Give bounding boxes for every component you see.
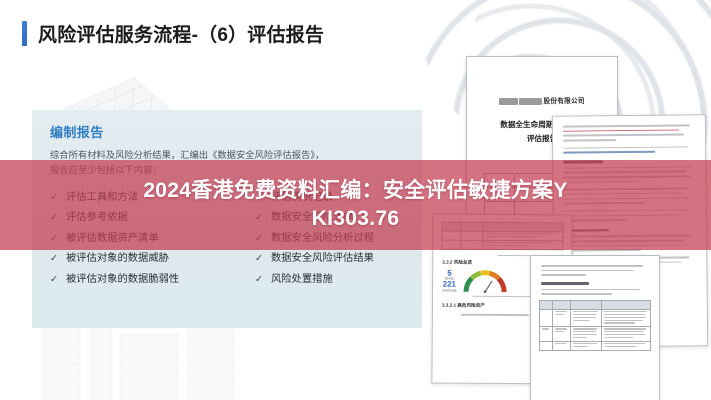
cover-company-line: XXXXXXXXX股份有限公司 <box>467 95 617 105</box>
list-item-label: 被评估对象的数据威胁 <box>66 249 169 264</box>
risk-detail-table <box>539 300 651 351</box>
check-icon: ✓ <box>255 275 263 285</box>
watermark-line-2: KI303.76 <box>143 205 567 233</box>
watermark-overlay-text: 2024香港免费资料汇编：安全评估敏捷方案Y KI303.76 <box>121 177 589 234</box>
redaction-block-icon: XXXX <box>499 98 518 105</box>
watermark-overlay-banner: 2024香港免费资料汇编：安全评估敏捷方案Y KI303.76 <box>0 160 711 250</box>
list-item-label: 风险处置措施 <box>271 270 333 285</box>
list-item-label: 被评估对象的数据脆弱性 <box>66 270 179 285</box>
slide-title-row: 风险评估服务流程-（6）评估报告 <box>22 20 324 47</box>
list-item: ✓ 被评估对象的数据脆弱性 <box>50 270 255 285</box>
check-icon: ✓ <box>50 254 58 264</box>
watermark-line-1: 2024香港免费资料汇编：安全评估敏捷方案Y <box>143 177 567 205</box>
list-item: ✓ 风险处置措施 <box>255 270 412 285</box>
list-item: ✓ 被评估对象的数据威胁 <box>50 249 255 264</box>
title-accent-bar <box>22 21 27 46</box>
slide-canvas: 风险评估服务流程-（6）评估报告 XXXXXXXXX股份有限公司 数据全生命周期… <box>0 0 711 400</box>
redaction-block-icon: XXXXX <box>519 98 543 105</box>
table-page-intro-lines <box>531 256 659 295</box>
list-item-label: 数据安全风险评估结果 <box>271 249 374 264</box>
check-icon: ✓ <box>255 254 263 264</box>
gauge-metric-values: 5 高风险 221 风险项总数 <box>442 269 457 292</box>
gauge-secondary-caption: 风险项总数 <box>442 289 457 292</box>
section-title: 编制报告 <box>32 110 422 141</box>
document-table-page <box>530 255 660 400</box>
page-title: 风险评估服务流程-（6）评估报告 <box>38 20 324 47</box>
list-item: ✓ 数据安全风险评估结果 <box>255 249 412 264</box>
check-icon: ✓ <box>50 275 58 285</box>
risk-gauge-icon <box>462 269 508 293</box>
